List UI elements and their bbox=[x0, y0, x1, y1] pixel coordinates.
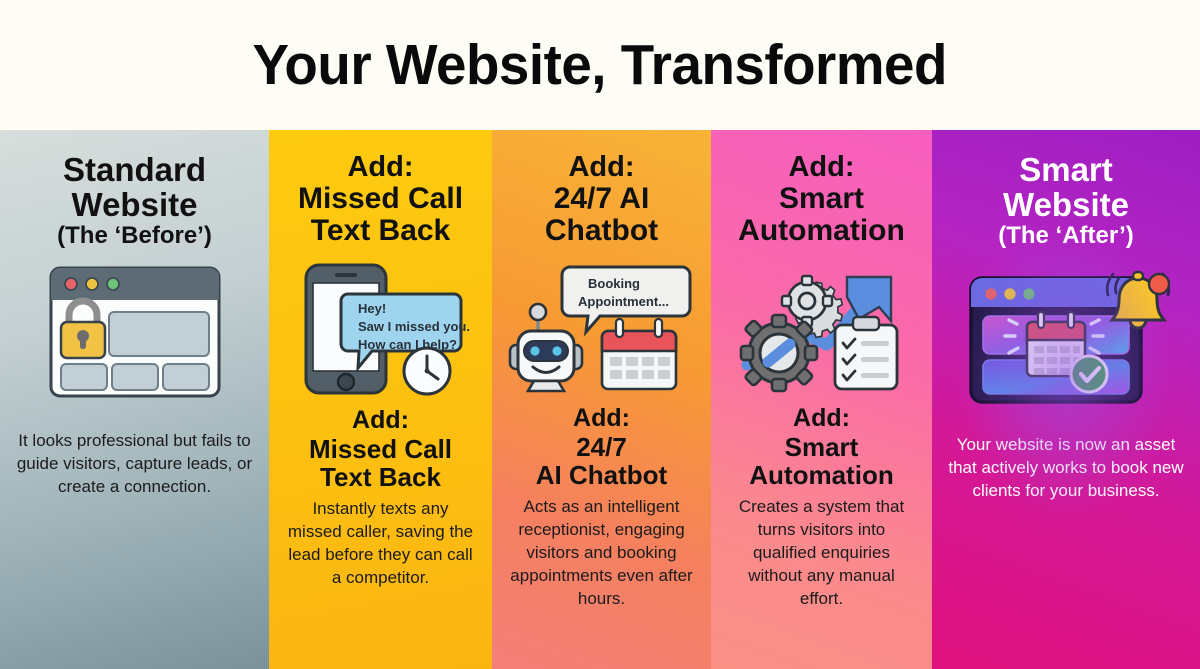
bubble-line-3: How can I help? bbox=[358, 337, 457, 352]
heading-line-3: Automation bbox=[738, 215, 905, 247]
column-body-text: Your website is now an asset that active… bbox=[932, 416, 1200, 503]
repeat-heading-line-1: Add: bbox=[536, 405, 667, 433]
repeat-heading-line-3: AI Chatbot bbox=[536, 461, 667, 490]
icon-area bbox=[711, 247, 932, 405]
column-standard-website: Standard Website (The ‘Before’) bbox=[0, 130, 269, 669]
column-heading: Add: 24/7 AI Chatbot bbox=[545, 130, 658, 247]
icon-area: Booking Appointment... bbox=[492, 247, 711, 405]
column-repeat-heading: Add: Missed Call Text Back bbox=[309, 407, 452, 492]
column-heading: Add: Missed Call Text Back bbox=[298, 130, 463, 247]
heading-line-3: Text Back bbox=[298, 215, 463, 247]
heading-line-2: 24/7 AI bbox=[545, 183, 658, 215]
icon-area bbox=[0, 248, 269, 412]
bubble-line-2: Appointment... bbox=[578, 294, 669, 309]
column-smart-website: Smart Website (The ‘After’) bbox=[932, 130, 1200, 669]
column-heading: Standard Website (The ‘Before’) bbox=[57, 130, 212, 248]
heading-line-1: Standard bbox=[57, 152, 212, 187]
column-body-text: Instantly texts any missed caller, savin… bbox=[269, 492, 492, 590]
heading-line-2: Website bbox=[998, 187, 1134, 222]
column-ai-chatbot: Add: 24/7 AI Chatbot Booking Appointment… bbox=[492, 130, 711, 669]
heading-line-1: Add: bbox=[738, 152, 905, 183]
icon-area: Hey! Saw I missed you. How can I help? bbox=[269, 247, 492, 407]
phone-sms-clock-icon: Hey! Saw I missed you. How can I help? bbox=[286, 261, 476, 397]
icon-area bbox=[932, 248, 1200, 416]
heading-line-1: Add: bbox=[298, 152, 463, 183]
page-title: Your Website, Transformed bbox=[253, 32, 947, 98]
column-body-text: Creates a system that turns visitors int… bbox=[711, 490, 932, 611]
bubble-line-1: Booking bbox=[588, 276, 640, 291]
column-heading: Smart Website (The ‘After’) bbox=[998, 130, 1134, 248]
repeat-heading-line-2: Smart bbox=[749, 433, 893, 462]
heading-subtitle: (The ‘After’) bbox=[998, 223, 1134, 249]
heading-line-1: Add: bbox=[545, 152, 658, 183]
gears-growth-arrow-clipboard-icon bbox=[727, 261, 917, 395]
heading-line-3: Chatbot bbox=[545, 215, 658, 247]
heading-line-2: Missed Call bbox=[298, 183, 463, 215]
column-repeat-heading: Add: 24/7 AI Chatbot bbox=[536, 405, 667, 490]
browser-window-locked-icon bbox=[45, 262, 225, 402]
column-missed-call-text-back: Add: Missed Call Text Back Hey! Saw I mi… bbox=[269, 130, 492, 669]
column-body-text: Acts as an intelligent receptionist, eng… bbox=[492, 490, 711, 611]
bubble-line-1: Hey! bbox=[358, 301, 386, 316]
repeat-heading-line-3: Text Back bbox=[309, 463, 452, 492]
repeat-heading-line-2: Missed Call bbox=[309, 435, 452, 464]
column-smart-automation: Add: Smart Automation bbox=[711, 130, 932, 669]
repeat-heading-line-1: Add: bbox=[749, 405, 893, 433]
repeat-heading-line-1: Add: bbox=[309, 407, 452, 435]
heading-line-2: Website bbox=[57, 187, 212, 222]
column-body-text: It looks professional but fails to guide… bbox=[0, 412, 269, 499]
column-repeat-heading: Add: Smart Automation bbox=[749, 405, 893, 490]
column-heading: Add: Smart Automation bbox=[738, 130, 905, 247]
browser-window-calendar-bell-icon bbox=[961, 262, 1171, 406]
heading-subtitle: (The ‘Before’) bbox=[57, 223, 212, 249]
heading-line-2: Smart bbox=[738, 183, 905, 215]
header-banner: Your Website, Transformed bbox=[0, 0, 1200, 130]
robot-chatbot-calendar-icon: Booking Appointment... bbox=[504, 261, 699, 395]
bubble-line-2: Saw I missed you. bbox=[358, 319, 470, 334]
heading-line-1: Smart bbox=[998, 152, 1134, 187]
repeat-heading-line-3: Automation bbox=[749, 461, 893, 490]
repeat-heading-line-2: 24/7 bbox=[536, 433, 667, 462]
columns-strip: Standard Website (The ‘Before’) bbox=[0, 130, 1200, 669]
infographic-root: Your Website, Transformed Standard Websi… bbox=[0, 0, 1200, 669]
gear-large bbox=[741, 315, 817, 391]
